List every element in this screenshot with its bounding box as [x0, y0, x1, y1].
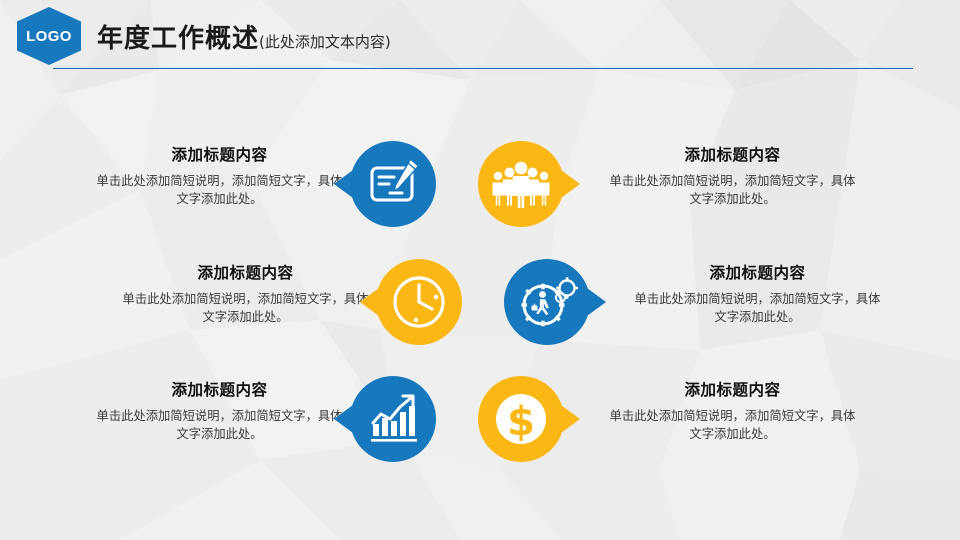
item-title-6: 添加标题内容: [605, 380, 860, 400]
page-title: 年度工作概述: [97, 24, 259, 54]
svg-text:$: $: [507, 399, 535, 445]
item-body-5: 单击此处添加简短说明，添加简短文字，具体文字添加此处。: [92, 407, 347, 443]
page-subtitle: (此处添加文本内容): [259, 33, 391, 51]
slide-header: LOGO 年度工作概述(此处添加文本内容): [0, 0, 960, 72]
item-text-6: 添加标题内容 单击此处添加简短说明，添加简短文字，具体文字添加此处。: [605, 380, 860, 443]
item-body-1: 单击此处添加简短说明，添加简短文字，具体文字添加此处。: [92, 172, 347, 208]
item-title-4: 添加标题内容: [630, 263, 885, 283]
item-title-2: 添加标题内容: [605, 145, 860, 165]
item-title-1: 添加标题内容: [92, 145, 347, 165]
logo-hexagon[interactable]: LOGO: [17, 7, 81, 65]
bubble-5[interactable]: [350, 376, 436, 462]
item-body-4: 单击此处添加简短说明，添加简短文字，具体文字添加此处。: [630, 290, 885, 326]
header-title-group: 年度工作概述(此处添加文本内容): [97, 18, 391, 55]
bubble-3[interactable]: [376, 259, 462, 345]
logo-text: LOGO: [26, 28, 72, 45]
item-text-5: 添加标题内容 单击此处添加简短说明，添加简短文字，具体文字添加此处。: [92, 380, 347, 443]
bubble-2[interactable]: [478, 141, 564, 227]
slide-canvas: LOGO 年度工作概述(此处添加文本内容) 添加标题内容 单击此处添加简短说明，…: [0, 0, 960, 540]
bubble-1[interactable]: [350, 141, 436, 227]
item-body-3: 单击此处添加简短说明，添加简短文字，具体文字添加此处。: [118, 290, 373, 326]
item-text-3: 添加标题内容 单击此处添加简短说明，添加简短文字，具体文字添加此处。: [118, 263, 373, 326]
header-divider: [53, 68, 913, 69]
bubble-4[interactable]: [504, 259, 590, 345]
item-body-2: 单击此处添加简短说明，添加简短文字，具体文字添加此处。: [605, 172, 860, 208]
item-text-1: 添加标题内容 单击此处添加简短说明，添加简短文字，具体文字添加此处。: [92, 145, 347, 208]
item-text-4: 添加标题内容 单击此处添加简短说明，添加简短文字，具体文字添加此处。: [630, 263, 885, 326]
bubble-6[interactable]: $: [478, 376, 564, 462]
item-title-3: 添加标题内容: [118, 263, 373, 283]
item-title-5: 添加标题内容: [92, 380, 347, 400]
item-text-2: 添加标题内容 单击此处添加简短说明，添加简短文字，具体文字添加此处。: [605, 145, 860, 208]
item-body-6: 单击此处添加简短说明，添加简短文字，具体文字添加此处。: [605, 407, 860, 443]
